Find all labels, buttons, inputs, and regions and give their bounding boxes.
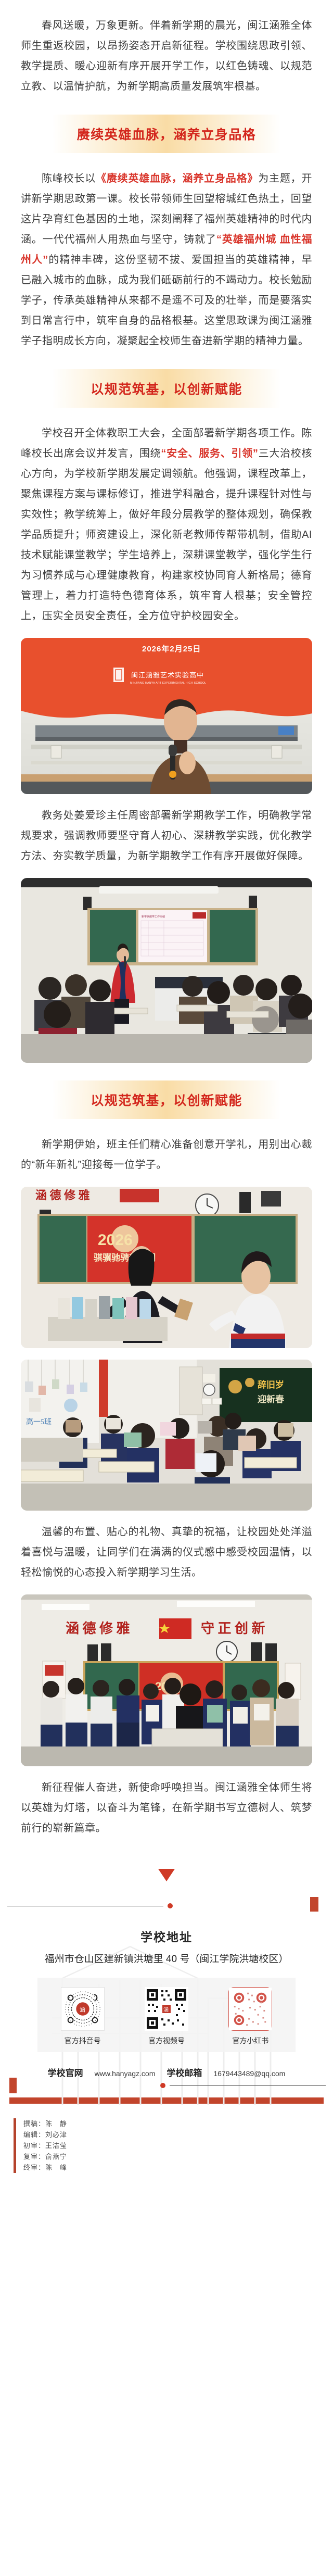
footer-rule-dot	[168, 1903, 173, 1908]
credit-line: 初审：王洁莹	[23, 2140, 67, 2151]
closing-paragraph: 新征程催人奋进，新使命呼唤担当。闽江涵雅全体师生将以英雄为灯塔，以奋斗为笔锋，在…	[0, 1778, 333, 1839]
svg-text:涵: 涵	[163, 2007, 169, 2013]
section-heading-band-1: 赓续英雄血脉，涵养立身品格	[52, 115, 281, 153]
douyin-qr-icon[interactable]: 涵	[61, 1987, 105, 2031]
qr-item-xiaohongshu[interactable]: 官方小红书	[219, 1987, 281, 2046]
photo4-board-text: 辞旧岁	[258, 1379, 284, 1390]
qr-caption-shipinhao: 官方视频号	[135, 2035, 198, 2046]
body-text: 陈峰校长以	[42, 173, 96, 184]
footer-rule-dot-2	[160, 2083, 165, 2088]
section-heading-band-3: 以规范筑基，以创新赋能	[52, 1080, 281, 1119]
section-heading-3: 以规范筑基，以创新赋能	[91, 1090, 242, 1109]
qr-item-douyin[interactable]: 涵 官方抖音号	[52, 1987, 114, 2046]
photo4-board-text-2: 迎新春	[258, 1394, 284, 1404]
address-text: 福州市仓山区建新镇洪塘里 40 号（闽江学院洪塘校区）	[0, 1951, 333, 1965]
footer-rule-top	[0, 1899, 333, 1913]
section-1-paragraph: 陈峰校长以《赓续英雄血脉，涵养立身品格》为主题，开讲新学期思政第一课。校长带领师…	[0, 169, 333, 351]
section-heading-2: 以规范筑基，以创新赋能	[91, 379, 242, 398]
photo5-wall-right: 守 正 创 新	[201, 1620, 265, 1636]
xiaohongshu-qr-icon[interactable]	[228, 1987, 272, 2031]
photo3-screen-year: 2026	[98, 1232, 133, 1249]
section-heading-1: 赓续英雄血脉，涵养立身品格	[77, 124, 257, 143]
photo-opening-gift: 涵 德 修 雅 2026 骐骥驰骋新学期	[21, 1187, 312, 1348]
body-text: 的精神丰碑，这份坚韧不拔、爱国担当的英雄精神，早已融入城市的血脉，成为我们砥砺前…	[21, 254, 312, 347]
credits-accent-bar	[14, 2118, 16, 2173]
photo2-slide-title: 新学期教学工作介绍	[142, 915, 165, 919]
photo1-banner-date: 2026年2月25日	[142, 644, 201, 654]
arrow-down-icon	[158, 1869, 175, 1881]
section-heading-band-2: 以规范筑基，以创新赋能	[52, 369, 281, 408]
credit-line: 编辑：刘必津	[23, 2129, 67, 2140]
photo5-wall-left: 涵 德 修 雅	[66, 1620, 130, 1636]
credits-list: 撰稿：陈 静编辑：刘必津初审：王洁莹复审：俞燕宁终审：陈 峰	[23, 2118, 67, 2173]
credits-block: 撰稿：陈 静编辑：刘必津初审：王洁莹复审：俞燕宁终审：陈 峰	[0, 2109, 333, 2187]
shipinhao-qr-icon[interactable]: 涵	[145, 1987, 188, 2031]
footer-tab-left	[9, 2078, 17, 2093]
credit-line: 终审：陈 峰	[23, 2162, 67, 2173]
photo-students-gifts: 高一5班 辞旧岁 迎新春	[21, 1360, 312, 1511]
intro-paragraph: 春风送暖，万象更新。伴着新学期的晨光，闽江涵雅全体师生重返校园，以昂扬姿态开启新…	[0, 16, 333, 97]
email-label: 学校邮箱	[166, 2066, 202, 2079]
article-page: 春风送暖，万象更新。伴着新学期的晨光，闽江涵雅全体师生重返校园，以昂扬姿态开启新…	[0, 0, 333, 2187]
photo-staff-meeting: 新学期教学工作介绍	[21, 878, 312, 1063]
photo-principal-speech: 2026年2月25日 闽江涵雅艺术实验高中 MINJIANG HANYA ART…	[21, 638, 312, 794]
photo3-wall-slogan: 涵 德 修 雅	[35, 1189, 90, 1202]
body-text: 三大治校核心方向，为学校新学期发展定调领航。他强调，课程改革上，聚焦课程方案与课…	[21, 448, 312, 622]
footer-rule-bottom	[0, 2079, 333, 2092]
photo4-class-label: 高一5班	[26, 1417, 52, 1426]
qr-item-shipinhao[interactable]: 涵 官方视频号	[135, 1987, 198, 2046]
qr-code-panel: 涵 官方抖音号	[37, 1978, 296, 2052]
footer-tab-right	[310, 1897, 318, 1912]
website-value[interactable]: www.hanyagz.com	[95, 2069, 156, 2078]
address-title: 学校地址	[0, 1927, 333, 1945]
credit-line: 复审：俞燕宁	[23, 2151, 67, 2162]
paragraph-after-photo4: 温馨的布置、贴心的礼物、真挚的祝福，让校园处处洋溢着喜悦与温暖，让同学们在满满的…	[0, 1522, 333, 1583]
contact-row: 学校官网 www.hanyagz.com 学校邮箱 1679443489@qq.…	[0, 2066, 333, 2079]
qr-caption-xiaohongshu: 官方小红书	[219, 2035, 281, 2046]
svg-text:涵: 涵	[80, 2006, 85, 2013]
qr-caption-douyin: 官方抖音号	[52, 2035, 114, 2046]
credit-line: 撰稿：陈 静	[23, 2118, 67, 2129]
section-2-paragraph: 学校召开全体教职工大会，全面部署新学期各项工作。陈峰校长出席会议并发言，围绕“安…	[0, 423, 333, 626]
website-label: 学校官网	[48, 2066, 83, 2079]
footer-rule-line	[7, 1906, 163, 1906]
paragraph-after-photo1: 教务处姜爱珍主任周密部署新学期教学工作，明确教学常规要求，强调教师要坚守育人初心…	[0, 806, 333, 866]
emphasis-text: “安全、服务、引领”	[161, 448, 258, 459]
section-divider	[0, 1839, 333, 1896]
email-value[interactable]: 1679443489@qq.com	[213, 2069, 285, 2078]
photo1-banner-school-cn: 闽江涵雅艺术实验高中	[131, 671, 204, 679]
footer: 学校地址 福州市仓山区建新镇洪塘里 40 号（闽江学院洪塘校区）	[0, 1899, 333, 2109]
emphasis-text: 《赓续英雄血脉，涵养立身品格》	[96, 173, 258, 184]
section-3-intro: 新学期伊始，班主任们精心准备创意开学礼，用别出心裁的“新年新礼”迎接每一位学子。	[0, 1135, 333, 1175]
photo-class-group: 涵 德 修 雅 守 正 创 新 2026	[21, 1594, 312, 1766]
footer-rule-line-2	[170, 2085, 326, 2086]
photo1-banner-school-en: MINJIANG HANYA ART EXPERIMENTAL HIGH SCH…	[130, 682, 206, 685]
